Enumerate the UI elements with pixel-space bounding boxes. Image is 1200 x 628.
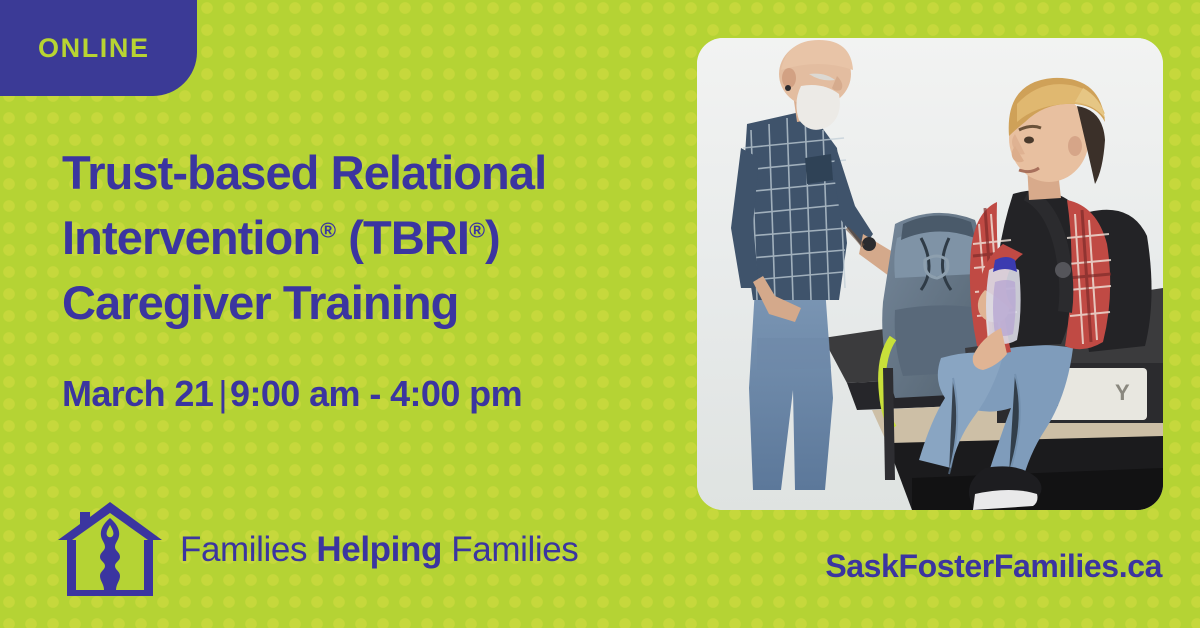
headline-line-3: Caregiver Training: [62, 270, 682, 335]
logo-word-families-2: Families: [451, 530, 578, 569]
page-title: Trust-based Relational Intervention® (TB…: [62, 140, 682, 335]
datetime-separator: |: [213, 373, 230, 414]
online-badge: ONLINE: [0, 0, 197, 96]
headline-line-2-text: Intervention: [62, 211, 320, 264]
logo-word-helping: Helping: [316, 530, 442, 569]
headline-line-2-post: ): [485, 211, 500, 264]
registered-trademark-icon-1: ®: [320, 217, 336, 242]
headline-line-1: Trust-based Relational: [62, 140, 682, 205]
organization-logo: Families Helping Families: [56, 500, 578, 598]
event-time: 9:00 am - 4:00 pm: [230, 373, 522, 414]
photo-illustration: H Y: [697, 38, 1163, 510]
promo-poster: ONLINE Trust-based Relational Interventi…: [0, 0, 1200, 628]
online-badge-label: ONLINE: [38, 35, 150, 62]
headline-line-2: Intervention® (TBRI®): [62, 205, 682, 270]
text-content-column: Trust-based Relational Intervention® (TB…: [62, 140, 682, 414]
house-with-candle-icon: [56, 500, 164, 598]
logo-wordmark: Families Helping Families: [180, 532, 578, 567]
headline-line-2-mid: (TBRI: [336, 211, 469, 264]
event-date: March 21: [62, 373, 213, 414]
event-photo: H Y: [697, 38, 1163, 510]
registered-trademark-icon-2: ®: [469, 217, 485, 242]
logo-word-families-1: Families: [180, 530, 307, 569]
website-url[interactable]: SaskFosterFamilies.ca: [825, 550, 1162, 582]
event-datetime: March 21|9:00 am - 4:00 pm: [62, 374, 682, 414]
svg-text:Y: Y: [1115, 380, 1130, 405]
